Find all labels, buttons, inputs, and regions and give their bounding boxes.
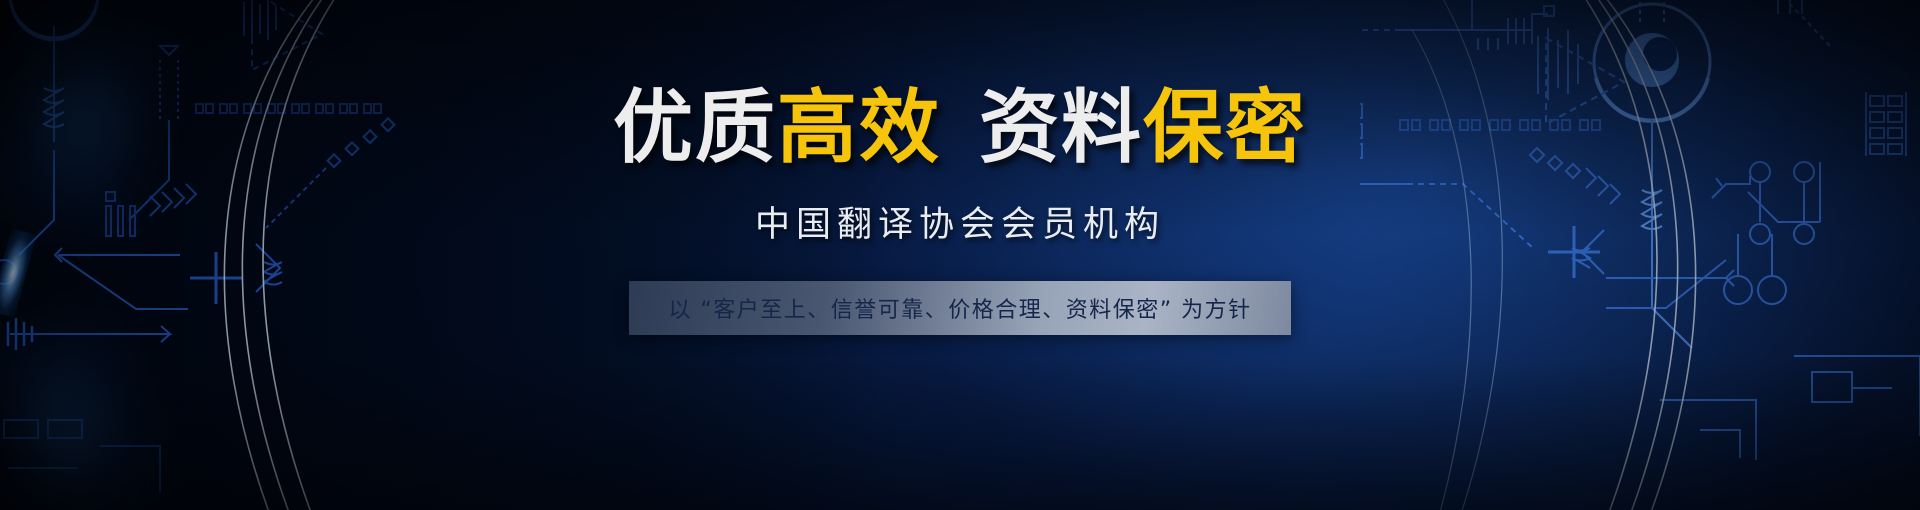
tagline-suffix: 为方针	[1181, 298, 1252, 323]
tagline-prefix: 以	[668, 298, 692, 323]
headline: 优质高效资料保密	[613, 88, 1307, 168]
headline-part-3: 资料	[979, 81, 1143, 174]
subtitle: 中国翻译协会会员机构	[755, 196, 1165, 247]
headline-part-1: 优质	[613, 81, 777, 174]
headline-part-4: 保密	[1143, 81, 1307, 174]
tagline-quote-text: 客户至上、信誉可靠、价格合理、资料保密	[713, 298, 1160, 323]
hero-banner: 优质高效资料保密 中国翻译协会会员机构 以 “客户至上、信誉可靠、价格合理、资料…	[0, 0, 1920, 510]
tagline-quote-close: ”	[1160, 298, 1173, 323]
tagline-quote-open: “	[700, 298, 713, 323]
tagline-text: 以 “客户至上、信誉可靠、价格合理、资料保密” 为方针	[668, 292, 1251, 324]
tagline-bar: 以 “客户至上、信誉可靠、价格合理、资料保密” 为方针	[629, 281, 1291, 335]
banner-content: 优质高效资料保密 中国翻译协会会员机构 以 “客户至上、信誉可靠、价格合理、资料…	[0, 0, 1920, 510]
headline-part-2: 高效	[777, 81, 941, 174]
